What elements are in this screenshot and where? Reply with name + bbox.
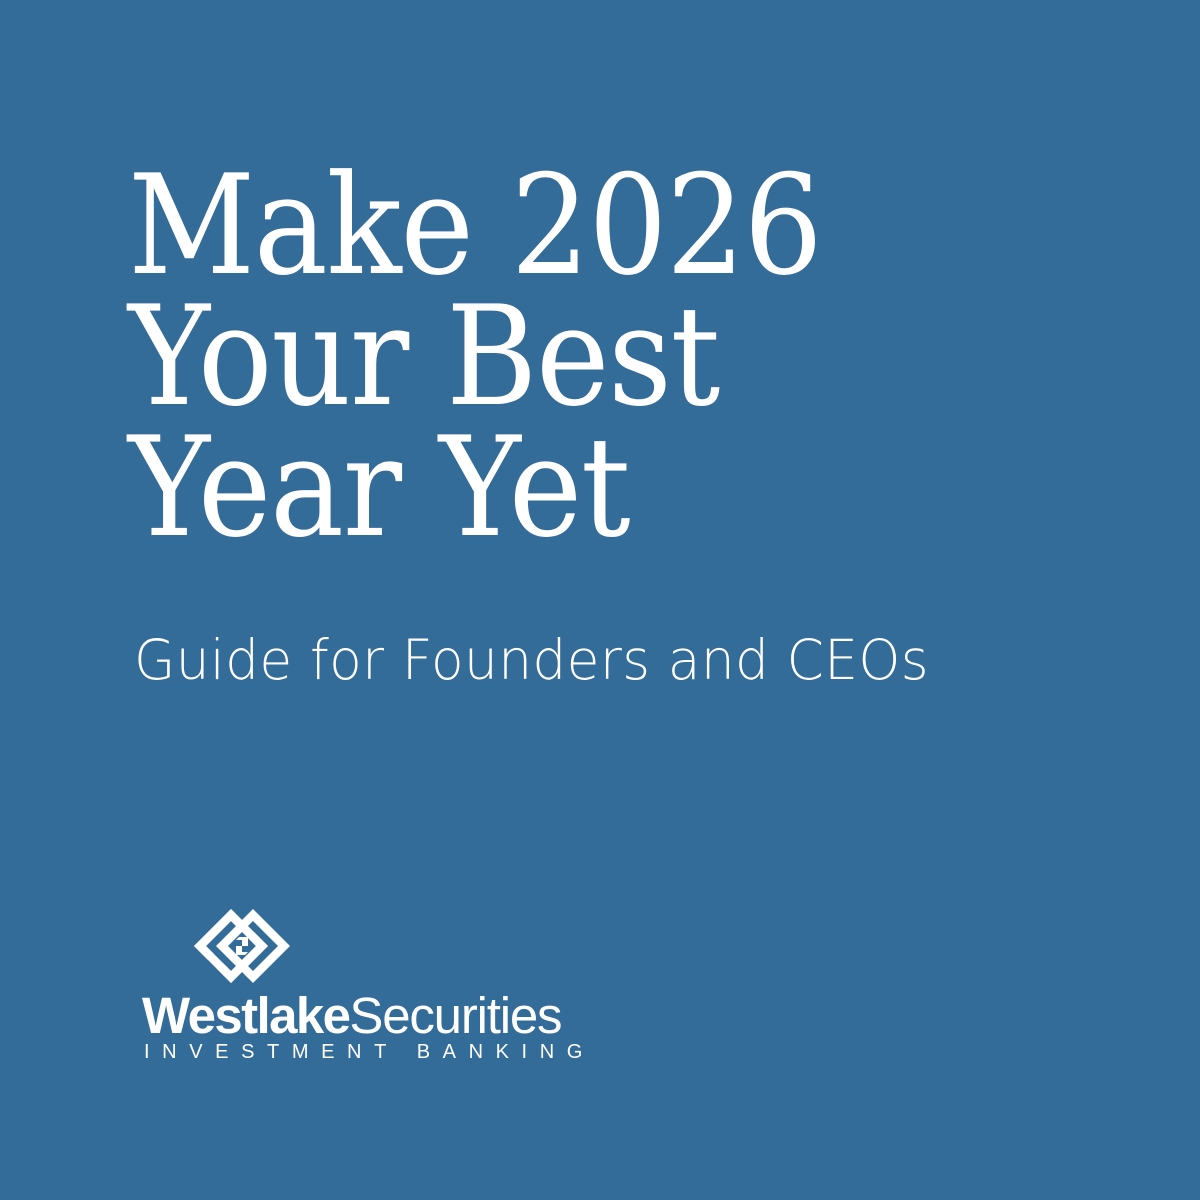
cover-slide: Make 2026 Your Best Year Yet Guide for F…: [0, 0, 1200, 1200]
logo-wordmark: WestlakeSecurities: [142, 990, 561, 1041]
logo-wordmark-primary: Westlake: [142, 987, 349, 1044]
page-title: Make 2026 Your Best Year Yet: [128, 160, 1128, 553]
logo-tagline: INVESTMENT BANKING: [144, 1041, 595, 1063]
headline-line-1: Make 2026: [128, 160, 1028, 291]
headline-line-3: Year Yet: [128, 422, 1028, 553]
subtitle: Guide for Founders and CEOs: [134, 629, 929, 691]
headline-line-2: Your Best: [128, 291, 1028, 422]
logo-wordmark-secondary: Securities: [349, 987, 561, 1044]
interlocking-diamonds-icon: [193, 908, 291, 984]
